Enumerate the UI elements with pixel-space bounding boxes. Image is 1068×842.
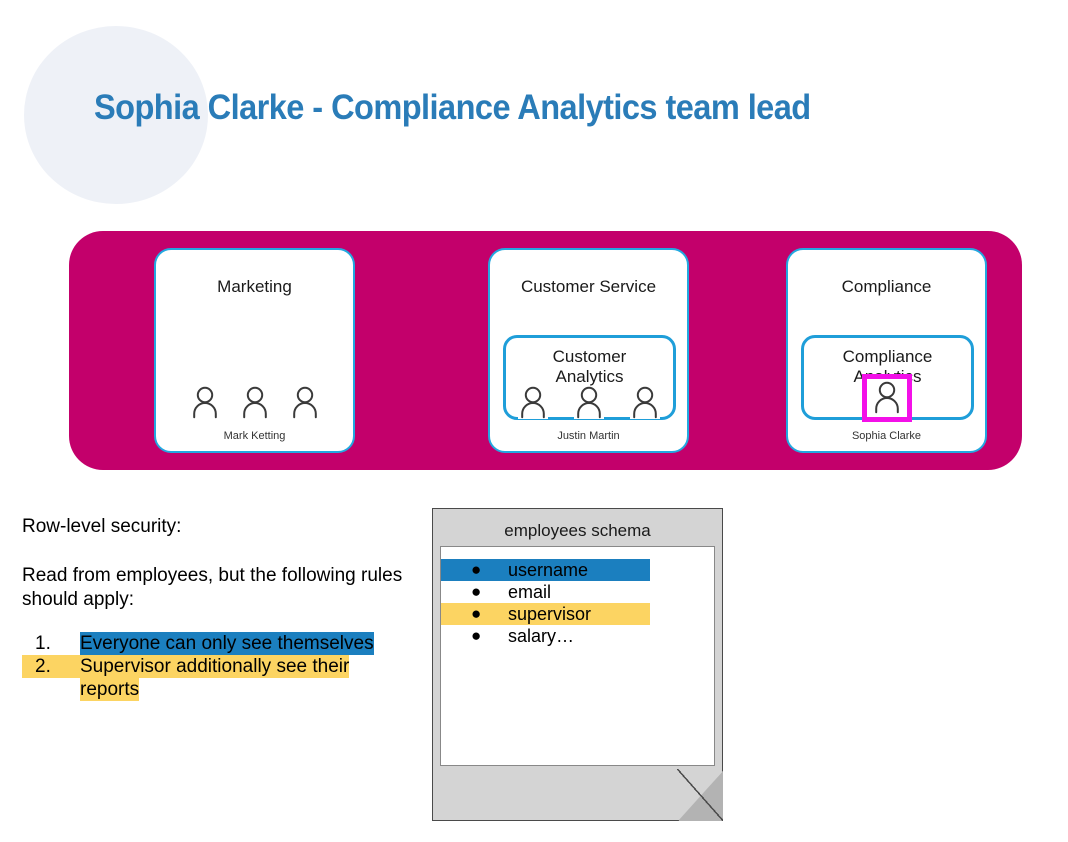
department-person-name: Justin Martin <box>490 430 687 442</box>
department-card-customer-service[interactable]: Customer Service Customer Analytics Just… <box>488 248 689 453</box>
document-fold-line <box>677 769 723 821</box>
department-title: Marketing <box>156 277 353 297</box>
schema-title: employees schema <box>432 521 723 541</box>
list-item: 1. Everyone can only see themselves <box>22 632 417 655</box>
list-item: ● username <box>441 559 650 581</box>
department-card-compliance[interactable]: Compliance Compliance Analytics Sophia C… <box>786 248 987 453</box>
bullet-icon: ● <box>471 603 481 625</box>
rls-rule-marker: 1. <box>22 632 80 655</box>
rls-rules-list: 1. Everyone can only see themselves 2. S… <box>22 632 417 701</box>
person-icon <box>240 386 270 419</box>
schema-field-list: ● username ● email ● supervisor ● salary… <box>441 547 714 647</box>
person-icon <box>290 386 320 419</box>
bullet-icon: ● <box>471 581 481 603</box>
bullet-icon: ● <box>471 559 481 581</box>
person-icon <box>630 386 660 419</box>
rls-intro-text: Read from employees, but the following r… <box>22 564 417 612</box>
people-row <box>156 386 353 419</box>
department-title: Customer Service <box>490 277 687 297</box>
department-title: Compliance <box>788 277 985 297</box>
person-icon <box>190 386 220 419</box>
person-icon <box>518 386 548 419</box>
rls-rule-text: Everyone can only see themselves <box>80 632 374 655</box>
schema-field-panel: ● username ● email ● supervisor ● salary… <box>440 546 715 766</box>
department-person-name: Mark Ketting <box>156 430 353 442</box>
list-item: ● salary… <box>441 625 714 647</box>
list-item: ● email <box>441 581 714 603</box>
schema-field-name: salary… <box>507 625 575 647</box>
analytics-team-label: Customer Analytics <box>506 347 673 387</box>
employees-schema-document: employees schema ● username ● email ● su… <box>432 508 723 821</box>
org-structure-panel: Marketing Mark Ketting Customer Service … <box>69 231 1022 470</box>
list-item: 2. Supervisor additionally see their rep… <box>22 655 417 701</box>
rls-heading: Row-level security: <box>22 515 417 539</box>
people-row <box>788 374 985 422</box>
people-row <box>490 386 687 419</box>
page-title: Sophia Clarke - Compliance Analytics tea… <box>94 88 811 128</box>
row-level-security-block: Row-level security: Read from employees,… <box>22 515 417 701</box>
list-item: ● supervisor <box>441 603 650 625</box>
person-icon <box>574 386 604 419</box>
department-card-marketing[interactable]: Marketing Mark Ketting <box>154 248 355 453</box>
schema-field-name: supervisor <box>507 603 592 625</box>
department-person-name: Sophia Clarke <box>788 430 985 442</box>
rls-rule-text-wrapper: Everyone can only see themselves <box>80 632 417 655</box>
person-icon-highlighted-sophia[interactable] <box>862 374 912 422</box>
rls-rule-marker: 2. <box>22 655 80 678</box>
schema-field-name: username <box>507 559 589 581</box>
schema-field-name: email <box>507 581 552 603</box>
bullet-icon: ● <box>471 625 481 647</box>
rls-rule-text: Supervisor additionally see their report… <box>80 655 349 701</box>
rls-rule-text-wrapper: Supervisor additionally see their report… <box>80 655 358 701</box>
